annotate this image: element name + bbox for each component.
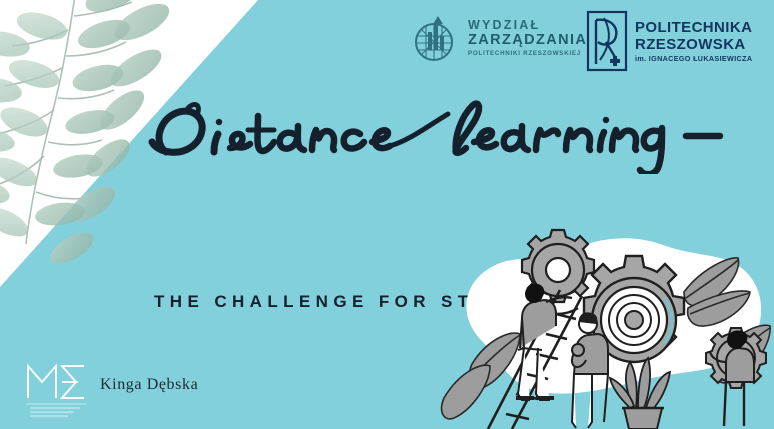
presentation-slide: WYDZIAŁ ZARZĄDZANIA POLITECHNIKI RZESZOW… <box>0 0 774 429</box>
globe-net-icon <box>412 12 460 64</box>
faculty-logo-line3: POLITECHNIKI RZESZOWSKIEJ <box>468 51 587 57</box>
university-logo-line2: RZESZOWSKA <box>635 37 752 52</box>
page-title-script <box>148 96 728 174</box>
wydzial-zarzadzania-logo: WYDZIAŁ ZARZĄDZANIA POLITECHNIKI RZESZOW… <box>412 12 587 64</box>
title-block: THE CHALLENGE FOR STUDENTS <box>0 96 774 179</box>
author-byline: Kinga Dębska <box>100 376 198 394</box>
faculty-logo-line2: ZARZĄDZANIA <box>468 33 587 48</box>
logo-row: WYDZIAŁ ZARZĄDZANIA POLITECHNIKI RZESZOW… <box>0 8 774 80</box>
people-with-gears-illustration <box>438 222 774 429</box>
faculty-logo-line1: WYDZIAŁ <box>468 19 587 32</box>
pr-monogram-icon <box>586 10 628 72</box>
university-logo-line1: POLITECHNIKA <box>635 20 752 35</box>
me-monogram-logo <box>22 352 92 418</box>
university-logo-line3: im. IGNACEGO ŁUKASIEWICZA <box>635 55 752 62</box>
politechnika-rzeszowska-logo: POLITECHNIKA RZESZOWSKA im. IGNACEGO ŁUK… <box>586 10 752 72</box>
